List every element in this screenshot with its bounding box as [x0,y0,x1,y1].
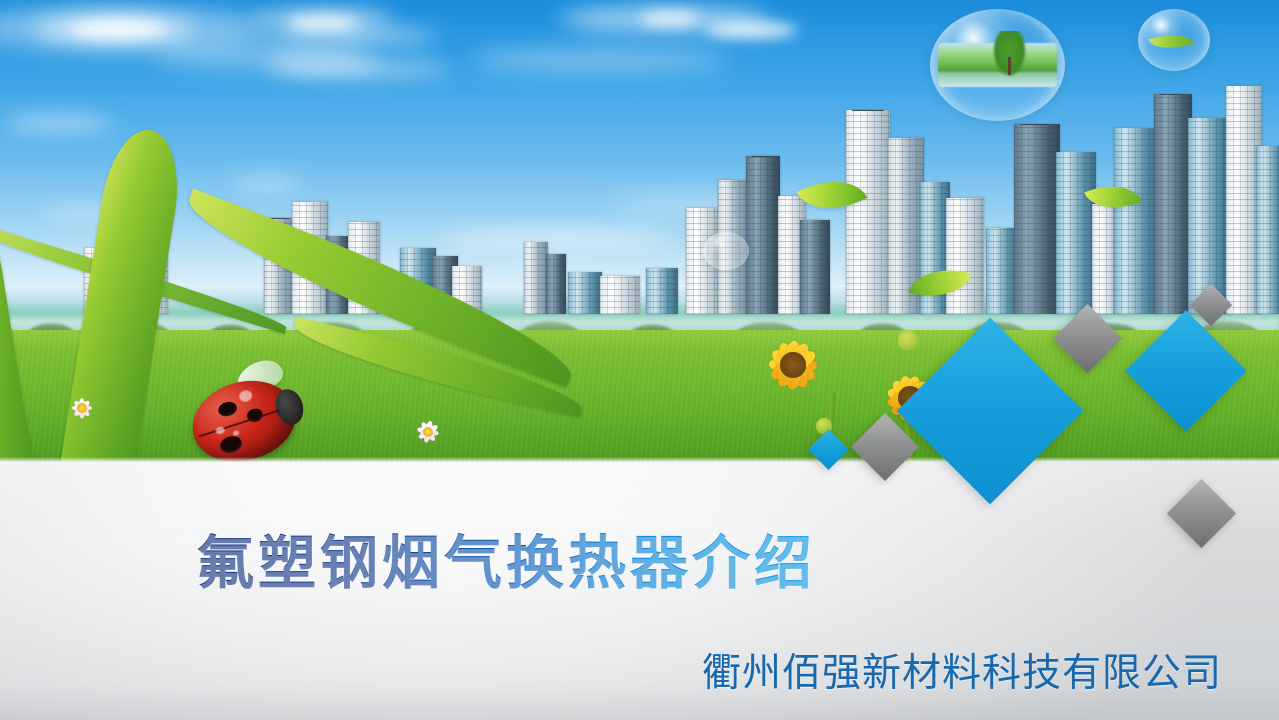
building [1114,128,1158,314]
hero-image [0,0,1279,462]
cloud [262,58,382,70]
presentation-slide: 氟塑钢烟气换热器介绍 衢州佰强新材料科技有限公司 [0,0,1279,720]
cosmos-flower [406,410,450,454]
building [1056,152,1096,314]
cloud [640,12,700,25]
bubble-leaf-icon [1148,27,1194,56]
flower-bud [898,330,918,350]
building [846,110,890,314]
cloud [286,16,360,30]
building [1256,146,1279,314]
cosmos-flower [62,388,102,428]
eco-bubble [930,9,1065,121]
small-bubble [703,232,749,270]
bubble-tree [992,31,1027,78]
building [1014,124,1060,314]
cloud [268,28,438,44]
cloud [70,20,166,38]
cloud [706,22,798,38]
yellow-daisy [748,320,838,410]
company-name: 衢州佰强新材料科技有限公司 [702,642,1222,698]
cloud [470,50,730,70]
page-title: 氟塑钢烟气换热器介绍 [196,516,816,600]
leaf-bubble [1138,9,1210,71]
building [746,156,780,314]
building [1154,94,1192,314]
